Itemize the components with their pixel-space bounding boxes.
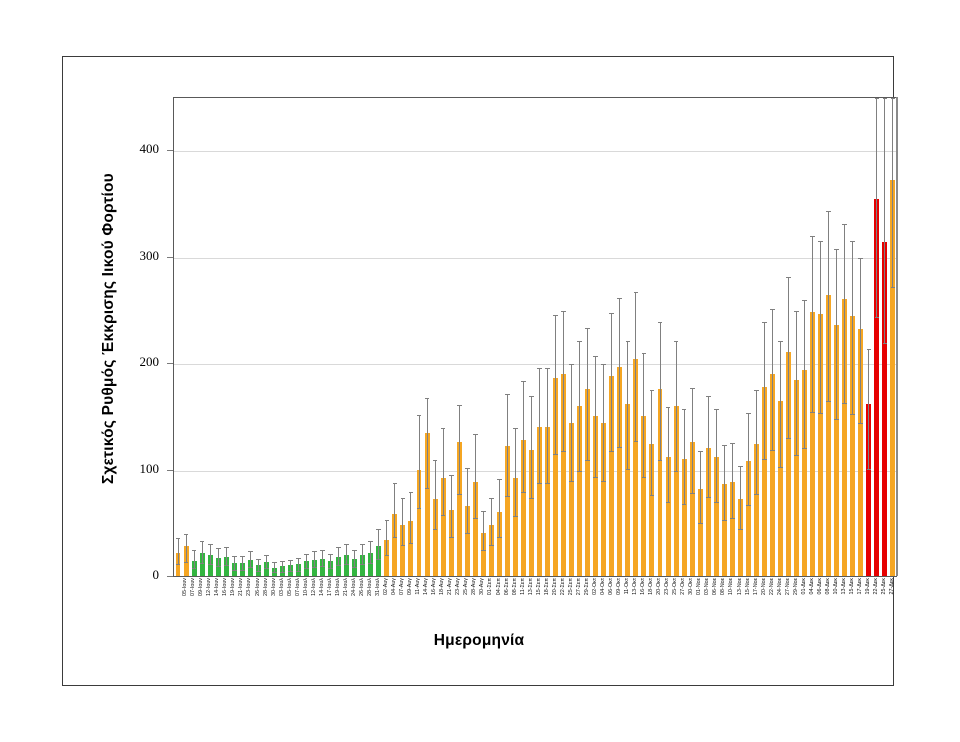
error-bar (788, 277, 789, 438)
error-bar (892, 98, 893, 287)
error-bar-cap-bottom (834, 419, 839, 420)
error-bar-cap-bottom (457, 494, 462, 495)
error-bar (764, 322, 765, 459)
error-bar-cap-bottom (256, 571, 261, 572)
error-bar-cap-top (328, 554, 333, 555)
error-bar-cap-bottom (248, 567, 253, 568)
error-bar-cap-bottom (850, 414, 855, 415)
error-bar-cap-bottom (368, 563, 373, 564)
error-bar-cap-top (794, 311, 799, 312)
error-bar (828, 211, 829, 402)
error-bar (756, 390, 757, 494)
error-bar-cap-bottom (417, 508, 422, 509)
error-bar-cap-bottom (465, 533, 470, 534)
error-bar-cap-top (497, 479, 502, 480)
error-bar (178, 538, 179, 565)
error-bar (660, 322, 661, 460)
error-bar (306, 554, 307, 569)
error-bar (210, 544, 211, 564)
error-bar-cap-top (457, 405, 462, 406)
error-bar (716, 409, 717, 503)
error-bar-cap-bottom (489, 545, 494, 546)
error-bar-cap-top (393, 483, 398, 484)
error-bar (274, 562, 275, 572)
error-bar-cap-bottom (891, 287, 896, 288)
error-bar-cap-top (553, 315, 558, 316)
error-bar-cap-top (312, 551, 317, 552)
error-bar (362, 544, 363, 564)
y-axis-title: Σχετικός Ρυθμός Έκκρισης Ιικού Φορτίου (100, 184, 118, 484)
error-bar-cap-top (545, 368, 550, 369)
y-tick-mark (167, 363, 173, 364)
error-bar (868, 349, 869, 469)
error-bar-cap-bottom (585, 460, 590, 461)
error-bar-cap-bottom (449, 537, 454, 538)
error-bar (651, 390, 652, 495)
error-bar-cap-top (746, 413, 751, 414)
error-bar-cap-top (585, 328, 590, 329)
error-bar-cap-top (802, 300, 807, 301)
error-bar-cap-top (288, 560, 293, 561)
error-bar-cap-bottom (473, 518, 478, 519)
error-bar-cap-top (513, 428, 518, 429)
error-bar-cap-top (505, 394, 510, 395)
error-bar (724, 445, 725, 520)
error-bar-cap-bottom (617, 447, 622, 448)
error-bar-cap-top (264, 555, 269, 556)
error-bar-cap-top (304, 554, 309, 555)
error-bar (330, 554, 331, 569)
error-bar (603, 364, 604, 481)
error-bar-cap-bottom (505, 496, 510, 497)
error-bar (386, 520, 387, 555)
error-bar (700, 451, 701, 522)
error-bar-cap-bottom (706, 497, 711, 498)
error-bar-cap-bottom (481, 550, 486, 551)
error-bar-cap-top (634, 292, 639, 293)
error-bar (314, 551, 315, 567)
error-bar-cap-bottom (553, 454, 558, 455)
error-bar-cap-top (883, 98, 888, 99)
error-bar-cap-bottom (569, 481, 574, 482)
error-bar (370, 541, 371, 563)
error-bar-cap-top (256, 559, 261, 560)
error-bar-cap-top (826, 211, 831, 212)
error-bar-cap-top (666, 407, 671, 408)
x-axis-title: Ημερομηνία (63, 632, 895, 650)
error-bar-cap-top (617, 298, 622, 299)
error-bar-cap-top (529, 396, 534, 397)
error-bar-cap-top (730, 443, 735, 444)
error-bar (467, 468, 468, 533)
y-tick-label: 100 (115, 461, 159, 477)
error-bar (820, 241, 821, 413)
error-bar-cap-top (682, 409, 687, 410)
error-bar-cap-bottom (577, 471, 582, 472)
error-bar (419, 415, 420, 508)
error-bar-cap-bottom (858, 423, 863, 424)
error-bar-cap-top (352, 550, 357, 551)
error-bar-cap-top (296, 558, 301, 559)
error-bar (796, 311, 797, 455)
error-bar-cap-bottom (409, 543, 414, 544)
y-tick-label: 300 (115, 248, 159, 264)
error-bar-cap-bottom (634, 441, 639, 442)
error-bar-cap-bottom (352, 567, 357, 568)
error-bar-cap-top (280, 561, 285, 562)
error-bar-cap-bottom (762, 459, 767, 460)
error-bar-cap-top (184, 534, 189, 535)
error-bar-cap-bottom (778, 467, 783, 468)
error-bar (684, 409, 685, 504)
error-bar-cap-top (786, 277, 791, 278)
error-bar-cap-bottom (320, 566, 325, 567)
error-bar-cap-top (577, 341, 582, 342)
error-bar (515, 428, 516, 516)
error-bar-cap-bottom (826, 401, 831, 402)
error-bar-cap-bottom (690, 493, 695, 494)
error-bar-cap-top (674, 341, 679, 342)
error-bar (668, 407, 669, 503)
error-bar-cap-top (208, 544, 213, 545)
error-bar-cap-bottom (658, 460, 663, 461)
error-bar (499, 479, 500, 536)
y-tick-mark (167, 470, 173, 471)
error-bar (523, 381, 524, 492)
error-bar (676, 341, 677, 471)
error-bar-cap-top (626, 341, 631, 342)
error-bar-cap-top (834, 249, 839, 250)
error-bar (483, 511, 484, 550)
error-bar (812, 236, 813, 412)
error-bar-cap-top (216, 548, 221, 549)
error-bar-cap-bottom (810, 412, 815, 413)
error-bar (547, 368, 548, 483)
error-bar (338, 547, 339, 565)
error-bar (555, 315, 556, 453)
error-bar-cap-bottom (184, 562, 189, 563)
error-bar-cap-top (425, 398, 430, 399)
error-bar (202, 541, 203, 563)
error-bar-cap-bottom (393, 537, 398, 538)
error-bar-cap-top (714, 409, 719, 410)
error-bar (619, 298, 620, 447)
error-bar (435, 460, 436, 529)
error-bar-cap-top (473, 434, 478, 435)
error-bar-cap-top (272, 562, 277, 563)
y-tick-mark (167, 150, 173, 151)
error-bar-cap-top (690, 388, 695, 389)
error-bar-cap-top (818, 241, 823, 242)
error-bar-cap-top (360, 544, 365, 545)
error-bar (692, 388, 693, 493)
error-bar-cap-bottom (794, 455, 799, 456)
error-bar-cap-top (867, 349, 872, 350)
error-bar-cap-bottom (875, 317, 880, 318)
error-bar-cap-bottom (280, 572, 285, 573)
error-bar (451, 475, 452, 537)
error-bar (427, 398, 428, 487)
error-bar-cap-bottom (642, 477, 647, 478)
error-bar-cap-bottom (441, 515, 446, 516)
error-bar (571, 364, 572, 481)
error-bar (884, 98, 885, 343)
error-bar (780, 341, 781, 468)
error-bar (354, 550, 355, 567)
error-bar (410, 492, 411, 543)
error-bar (346, 544, 347, 564)
error-bar-cap-top (320, 550, 325, 551)
error-bar-cap-bottom (746, 505, 751, 506)
gridline (174, 151, 896, 152)
error-bar-cap-top (738, 466, 743, 467)
error-bar-cap-bottom (842, 403, 847, 404)
error-bar-cap-top (368, 541, 373, 542)
error-bar (290, 560, 291, 571)
error-bar (282, 561, 283, 572)
error-bar-cap-top (601, 364, 606, 365)
x-axis-tick-labels: 05-Ιουν07-Ιουν09-Ιουν12-Ιουν14-Ιουν16-Ιο… (173, 578, 897, 630)
error-bar-cap-bottom (296, 571, 301, 572)
error-bar-cap-top (176, 538, 181, 539)
error-bar (860, 258, 861, 423)
error-bar (507, 394, 508, 496)
error-bar-cap-bottom (264, 568, 269, 569)
error-bar (611, 313, 612, 451)
error-bar-cap-top (891, 98, 896, 99)
error-bar (635, 292, 636, 441)
error-bar-cap-bottom (786, 438, 791, 439)
error-bar-cap-bottom (328, 568, 333, 569)
error-bar-cap-top (561, 311, 566, 312)
error-bar-cap-top (433, 460, 438, 461)
error-bar-cap-top (385, 520, 390, 521)
gridline (174, 258, 896, 259)
error-bar-cap-top (376, 529, 381, 530)
error-bar-cap-bottom (537, 483, 542, 484)
error-bar-cap-bottom (208, 564, 213, 565)
error-bar-cap-bottom (232, 570, 237, 571)
error-bar-cap-bottom (738, 529, 743, 530)
error-bar-cap-top (593, 356, 598, 357)
error-bar-cap-bottom (714, 502, 719, 503)
error-bar-cap-top (248, 551, 253, 552)
error-bar-cap-top (465, 468, 470, 469)
error-bar-cap-top (344, 544, 349, 545)
error-bar-cap-top (449, 475, 454, 476)
error-bar (258, 559, 259, 571)
error-bar-cap-bottom (609, 451, 614, 452)
error-bar (708, 396, 709, 497)
error-bar-cap-top (650, 390, 655, 391)
error-bar-cap-bottom (601, 481, 606, 482)
error-bar (876, 98, 877, 317)
error-bar (322, 550, 323, 566)
error-bar (226, 547, 227, 565)
y-tick-mark (167, 257, 173, 258)
error-bar-cap-top (521, 381, 526, 382)
error-bar-cap-bottom (344, 564, 349, 565)
plot-right-border (896, 97, 898, 576)
error-bar (394, 483, 395, 536)
error-bar (402, 498, 403, 545)
error-bar (266, 555, 267, 569)
error-bar-cap-bottom (529, 498, 534, 499)
error-bar-cap-bottom (425, 488, 430, 489)
error-bar (186, 534, 187, 562)
error-bar-cap-bottom (626, 469, 631, 470)
error-bar (234, 556, 235, 570)
error-bar-cap-top (489, 498, 494, 499)
plot-bottom-border (173, 576, 897, 577)
error-bar-cap-top (858, 258, 863, 259)
error-bar-cap-bottom (200, 563, 205, 564)
error-bar-cap-top (537, 368, 542, 369)
x-tick-label (894, 578, 906, 624)
error-bar (844, 224, 845, 404)
error-bar (836, 249, 837, 419)
error-bar-cap-bottom (545, 483, 550, 484)
error-bar-cap-bottom (497, 537, 502, 538)
error-bar-cap-bottom (224, 565, 229, 566)
error-bar-cap-top (778, 341, 783, 342)
error-bar-cap-top (224, 547, 229, 548)
error-bar-cap-bottom (698, 523, 703, 524)
error-bar-cap-bottom (376, 559, 381, 560)
error-bar-cap-bottom (867, 469, 872, 470)
error-bar (242, 556, 243, 570)
error-bar-cap-bottom (593, 477, 598, 478)
error-bar-cap-top (192, 550, 197, 551)
error-bar-cap-bottom (521, 492, 526, 493)
error-bar-cap-bottom (754, 494, 759, 495)
error-bar-cap-bottom (513, 516, 518, 517)
error-bar-cap-bottom (674, 471, 679, 472)
error-bar (378, 529, 379, 559)
error-bar (748, 413, 749, 505)
error-bar-cap-bottom (288, 571, 293, 572)
error-bar-cap-bottom (176, 564, 181, 565)
error-bar (772, 309, 773, 451)
error-bar-cap-top (770, 309, 775, 310)
error-bar-cap-bottom (666, 502, 671, 503)
error-bar (459, 405, 460, 494)
error-bar (563, 311, 564, 452)
error-bar-cap-bottom (818, 413, 823, 414)
error-bar-cap-top (481, 511, 486, 512)
error-bar (298, 558, 299, 571)
error-bar (587, 328, 588, 460)
error-bar (194, 550, 195, 568)
error-bar-cap-top (850, 241, 855, 242)
error-bar-cap-bottom (385, 555, 390, 556)
error-bar-cap-bottom (192, 568, 197, 569)
error-bar-cap-top (722, 445, 727, 446)
error-bar-cap-top (698, 451, 703, 452)
error-bar-cap-top (762, 322, 767, 323)
error-bar-cap-top (240, 556, 245, 557)
error-bar-cap-bottom (360, 564, 365, 565)
error-bar (579, 341, 580, 471)
error-bar (531, 396, 532, 498)
error-bar-cap-top (609, 313, 614, 314)
plot-area (173, 97, 896, 576)
error-bar-cap-top (754, 390, 759, 391)
error-bar (804, 300, 805, 448)
error-bar-cap-top (401, 498, 406, 499)
error-bar (740, 466, 741, 529)
error-bar-cap-top (569, 364, 574, 365)
error-bar (443, 428, 444, 515)
error-bar-cap-bottom (240, 570, 245, 571)
error-bar-cap-bottom (722, 520, 727, 521)
error-bar-cap-top (417, 415, 422, 416)
error-bar-cap-bottom (770, 450, 775, 451)
error-bar-cap-bottom (304, 568, 309, 569)
error-bar (539, 368, 540, 483)
y-tick-label: 400 (115, 141, 159, 157)
error-bar (491, 498, 492, 545)
error-bar-cap-bottom (883, 343, 888, 344)
error-bar-cap-top (810, 236, 815, 237)
error-bar (852, 241, 853, 415)
error-bar-cap-bottom (650, 495, 655, 496)
error-bar (627, 341, 628, 470)
chart-image-frame: Σχετικός Ρυθμός Έκκρισης Ιικού Φορτίου 0… (62, 56, 894, 686)
y-tick-mark (167, 576, 173, 577)
y-tick-label: 0 (115, 567, 159, 583)
error-bar (218, 548, 219, 566)
error-bar-cap-top (658, 322, 663, 323)
error-bar-cap-bottom (272, 572, 277, 573)
error-bar-cap-bottom (682, 504, 687, 505)
error-bar-cap-bottom (401, 545, 406, 546)
error-bar (643, 353, 644, 476)
error-bar-cap-bottom (336, 565, 341, 566)
error-bar (250, 551, 251, 567)
error-bar-cap-bottom (730, 518, 735, 519)
error-bar-cap-top (875, 98, 880, 99)
error-bar-cap-top (842, 224, 847, 225)
error-bar-cap-bottom (216, 566, 221, 567)
error-bar (475, 434, 476, 518)
error-bar (732, 443, 733, 519)
error-bar (595, 356, 596, 477)
y-tick-label: 200 (115, 354, 159, 370)
error-bar-cap-top (200, 541, 205, 542)
error-bar-cap-top (441, 428, 446, 429)
error-bar-cap-top (336, 547, 341, 548)
error-bar-cap-bottom (561, 451, 566, 452)
error-bar-cap-bottom (433, 529, 438, 530)
chart-screenshot: Σχετικός Ρυθμός Έκκρισης Ιικού Φορτίου 0… (0, 0, 960, 742)
error-bar-cap-bottom (312, 567, 317, 568)
error-bar-cap-top (409, 492, 414, 493)
error-bar-cap-top (706, 396, 711, 397)
error-bar-cap-top (232, 556, 237, 557)
error-bar-cap-bottom (802, 448, 807, 449)
error-bar-cap-top (642, 353, 647, 354)
